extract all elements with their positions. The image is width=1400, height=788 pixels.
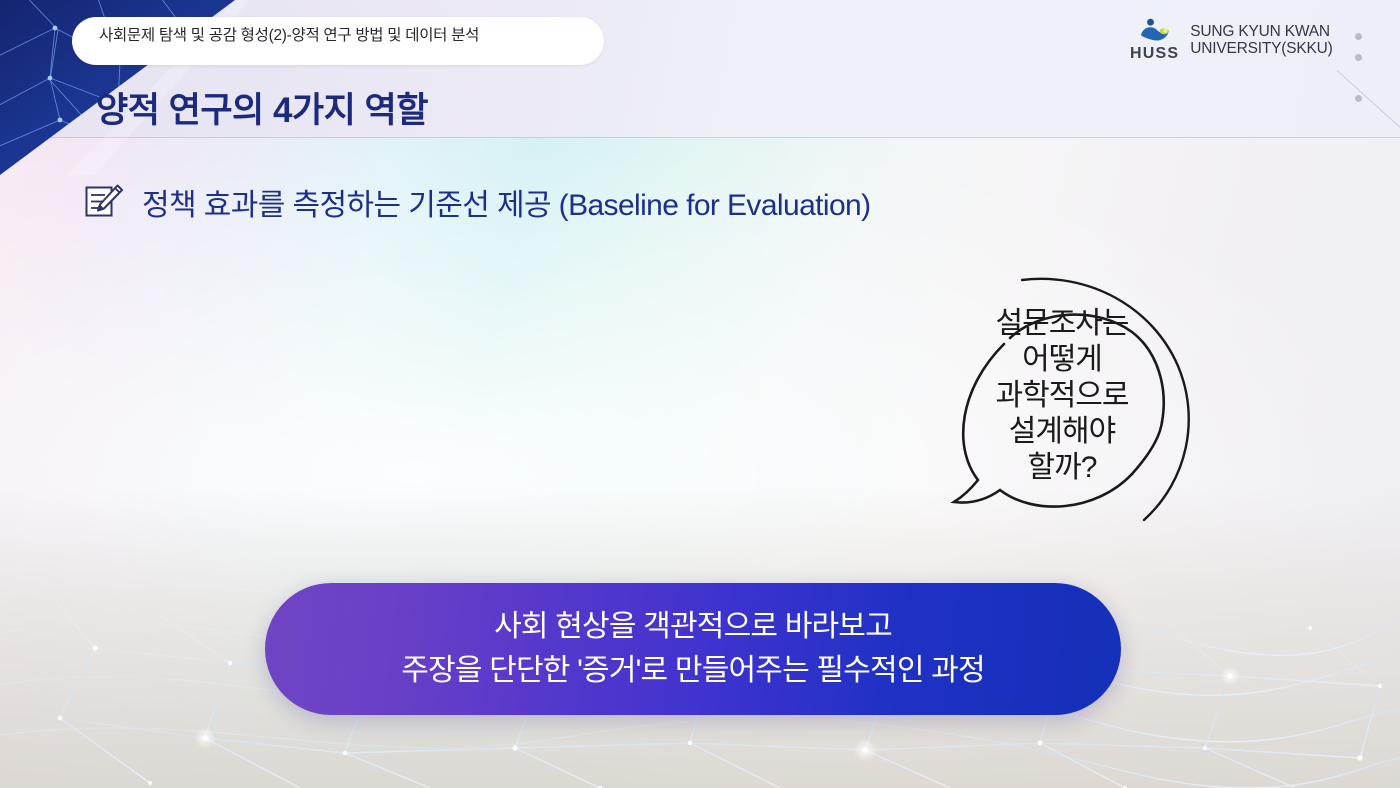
dot-2	[1355, 54, 1362, 61]
dot-1	[1355, 33, 1362, 40]
huss-acronym: HUSS	[1130, 45, 1179, 63]
huss-logo-mark: HUSS	[1130, 18, 1179, 63]
banner-line-1: 사회 현상을 객관적으로 바라보고	[494, 605, 892, 649]
university-name-line2: UNIVERSITY(SKKU)	[1190, 40, 1332, 57]
bubble-line-1: 설문조사는	[952, 306, 1172, 342]
speech-bubble-text: 설문조사는 어떻게 과학적으로 설계해야 할까?	[952, 306, 1172, 486]
dot-3	[1355, 95, 1362, 102]
bubble-line-5: 할까?	[952, 450, 1172, 486]
university-name-line1: SUNG KYUN KWAN	[1190, 23, 1332, 40]
bubble-line-2: 어떻게	[952, 342, 1172, 378]
speech-bubble: 설문조사는 어떻게 과학적으로 설계해야 할까?	[900, 258, 1220, 558]
memo-pencil-icon	[84, 183, 124, 221]
summary-banner: 사회 현상을 객관적으로 바라보고 주장을 단단한 '증거'로 만들어주는 필수…	[265, 583, 1121, 715]
huss-swoosh-icon	[1138, 18, 1172, 44]
bubble-line-3: 과학적으로	[952, 378, 1172, 414]
bullet-text: 정책 효과를 측정하는 기준선 제공 (Baseline for Evaluat…	[142, 180, 871, 224]
university-logo: HUSS SUNG KYUN KWAN UNIVERSITY(SKKU)	[1130, 18, 1333, 63]
breadcrumb: 사회문제 탐색 및 공감 형성(2)-양적 연구 방법 및 데이터 분석	[99, 25, 569, 46]
page-title: 양적 연구의 4가지 역할	[96, 82, 428, 133]
university-name: SUNG KYUN KWAN UNIVERSITY(SKKU)	[1190, 23, 1332, 59]
bullet-item: 정책 효과를 측정하는 기준선 제공 (Baseline for Evaluat…	[84, 180, 871, 224]
presentation-slide: 사회문제 탐색 및 공감 형성(2)-양적 연구 방법 및 데이터 분석 양적 …	[0, 0, 1400, 788]
banner-line-2: 주장을 단단한 '증거'로 만들어주는 필수적인 과정	[401, 649, 985, 693]
bubble-line-4: 설계해야	[952, 414, 1172, 450]
